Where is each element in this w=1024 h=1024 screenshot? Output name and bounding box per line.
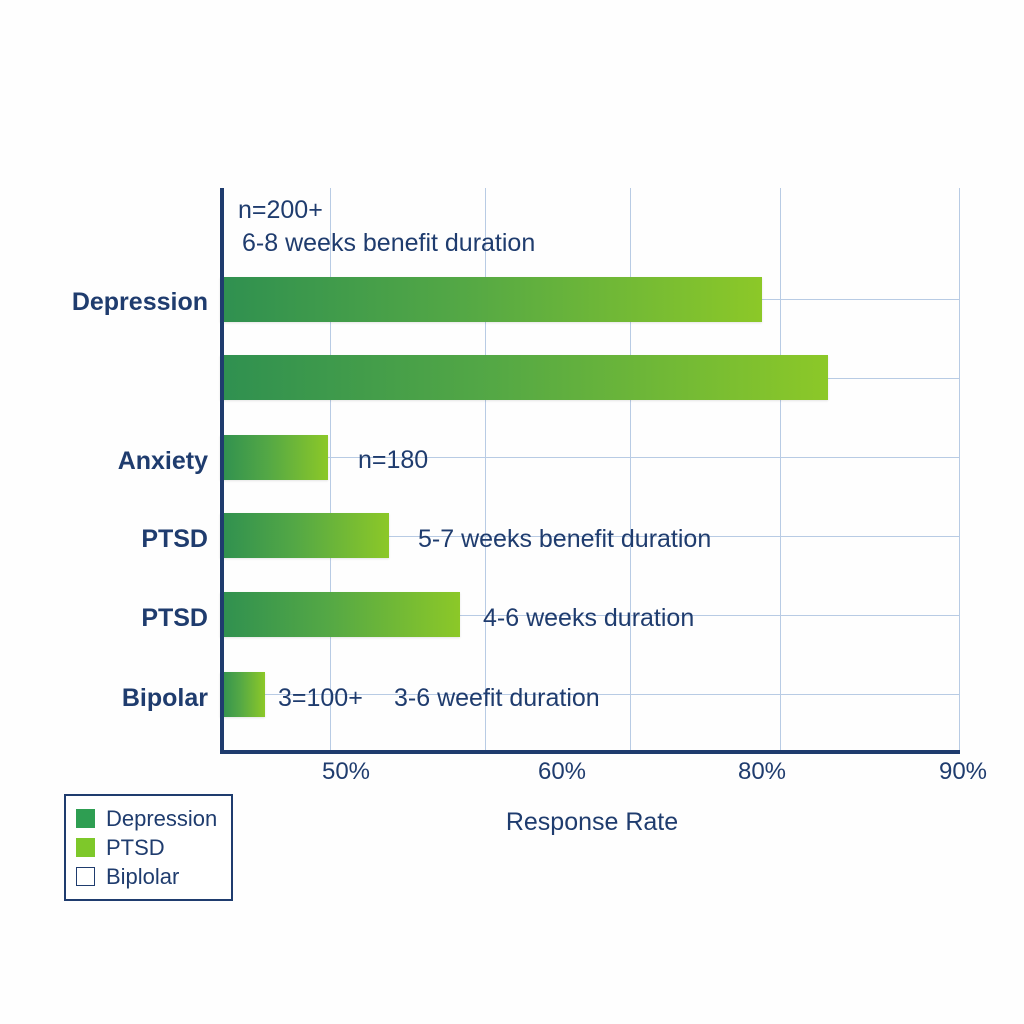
gridline-vertical-90 — [780, 188, 781, 754]
bar-depression-2 — [220, 355, 828, 400]
gridline-vertical-60 — [485, 188, 486, 754]
annotation-5-7-weeks: 5-7 weeks benefit duration — [418, 525, 711, 554]
category-label-ptsd-1: PTSD — [0, 525, 208, 554]
category-label-text: PTSD — [141, 525, 208, 553]
annotation-n-200: n=200+ — [238, 196, 323, 225]
annotation-3-6-weefit: 3-6 weefit duration — [394, 684, 600, 713]
xtick-label-90: 90% — [939, 758, 987, 786]
legend-item-ptsd: PTSD — [76, 833, 217, 862]
gridline-horizontal-2 — [220, 457, 960, 458]
bar-ptsd-1 — [220, 513, 389, 558]
annotation-6-8-weeks: 6-8 weeks benefit duration — [242, 229, 535, 258]
x-axis-line — [220, 750, 960, 754]
legend-swatch-ptsd — [76, 838, 95, 857]
category-label-depression: Depression — [0, 288, 208, 317]
legend-item-depression: Depression — [76, 804, 217, 833]
gridline-vertical-50 — [330, 188, 331, 754]
legend-item-bipolar: Biplolar — [76, 862, 217, 891]
legend-label-ptsd: PTSD — [106, 835, 165, 861]
category-label-text: Anxiety — [118, 447, 208, 475]
category-label-text: PTSD — [141, 604, 208, 632]
y-axis-line — [220, 188, 224, 754]
legend-swatch-bipolar — [76, 867, 95, 886]
annotation-3-100: 3=100+ — [278, 684, 363, 713]
legend-label-bipolar: Biplolar — [106, 864, 179, 890]
bar-ptsd-2 — [220, 592, 460, 637]
category-label-anxiety: Anxiety — [0, 447, 208, 476]
category-label-text: Depression — [72, 288, 208, 316]
gridline-vertical-80 — [630, 188, 631, 754]
xtick-label-50: 50% — [322, 758, 370, 786]
legend-label-depression: Depression — [106, 806, 217, 832]
xtick-label-60: 60% — [538, 758, 586, 786]
x-axis-title-text: Response Rate — [506, 808, 678, 836]
bar-anxiety — [220, 435, 328, 480]
plot-right-edge — [959, 188, 960, 754]
category-label-ptsd-2: PTSD — [0, 604, 208, 633]
annotation-n-180: n=180 — [358, 446, 428, 475]
chart-legend: Depression PTSD Biplolar — [64, 794, 233, 901]
bar-bipolar — [220, 672, 265, 717]
category-label-text: Bipolar — [122, 684, 208, 712]
annotation-4-6-weeks: 4-6 weeks duration — [483, 604, 694, 633]
plot-area — [220, 188, 960, 754]
xtick-label-80: 80% — [738, 758, 786, 786]
category-label-bipolar: Bipolar — [0, 684, 208, 713]
legend-swatch-depression — [76, 809, 95, 828]
chart-figure: Depression Anxiety PTSD PTSD Bipolar n=2… — [0, 0, 1024, 1024]
bar-depression-1 — [220, 277, 762, 322]
